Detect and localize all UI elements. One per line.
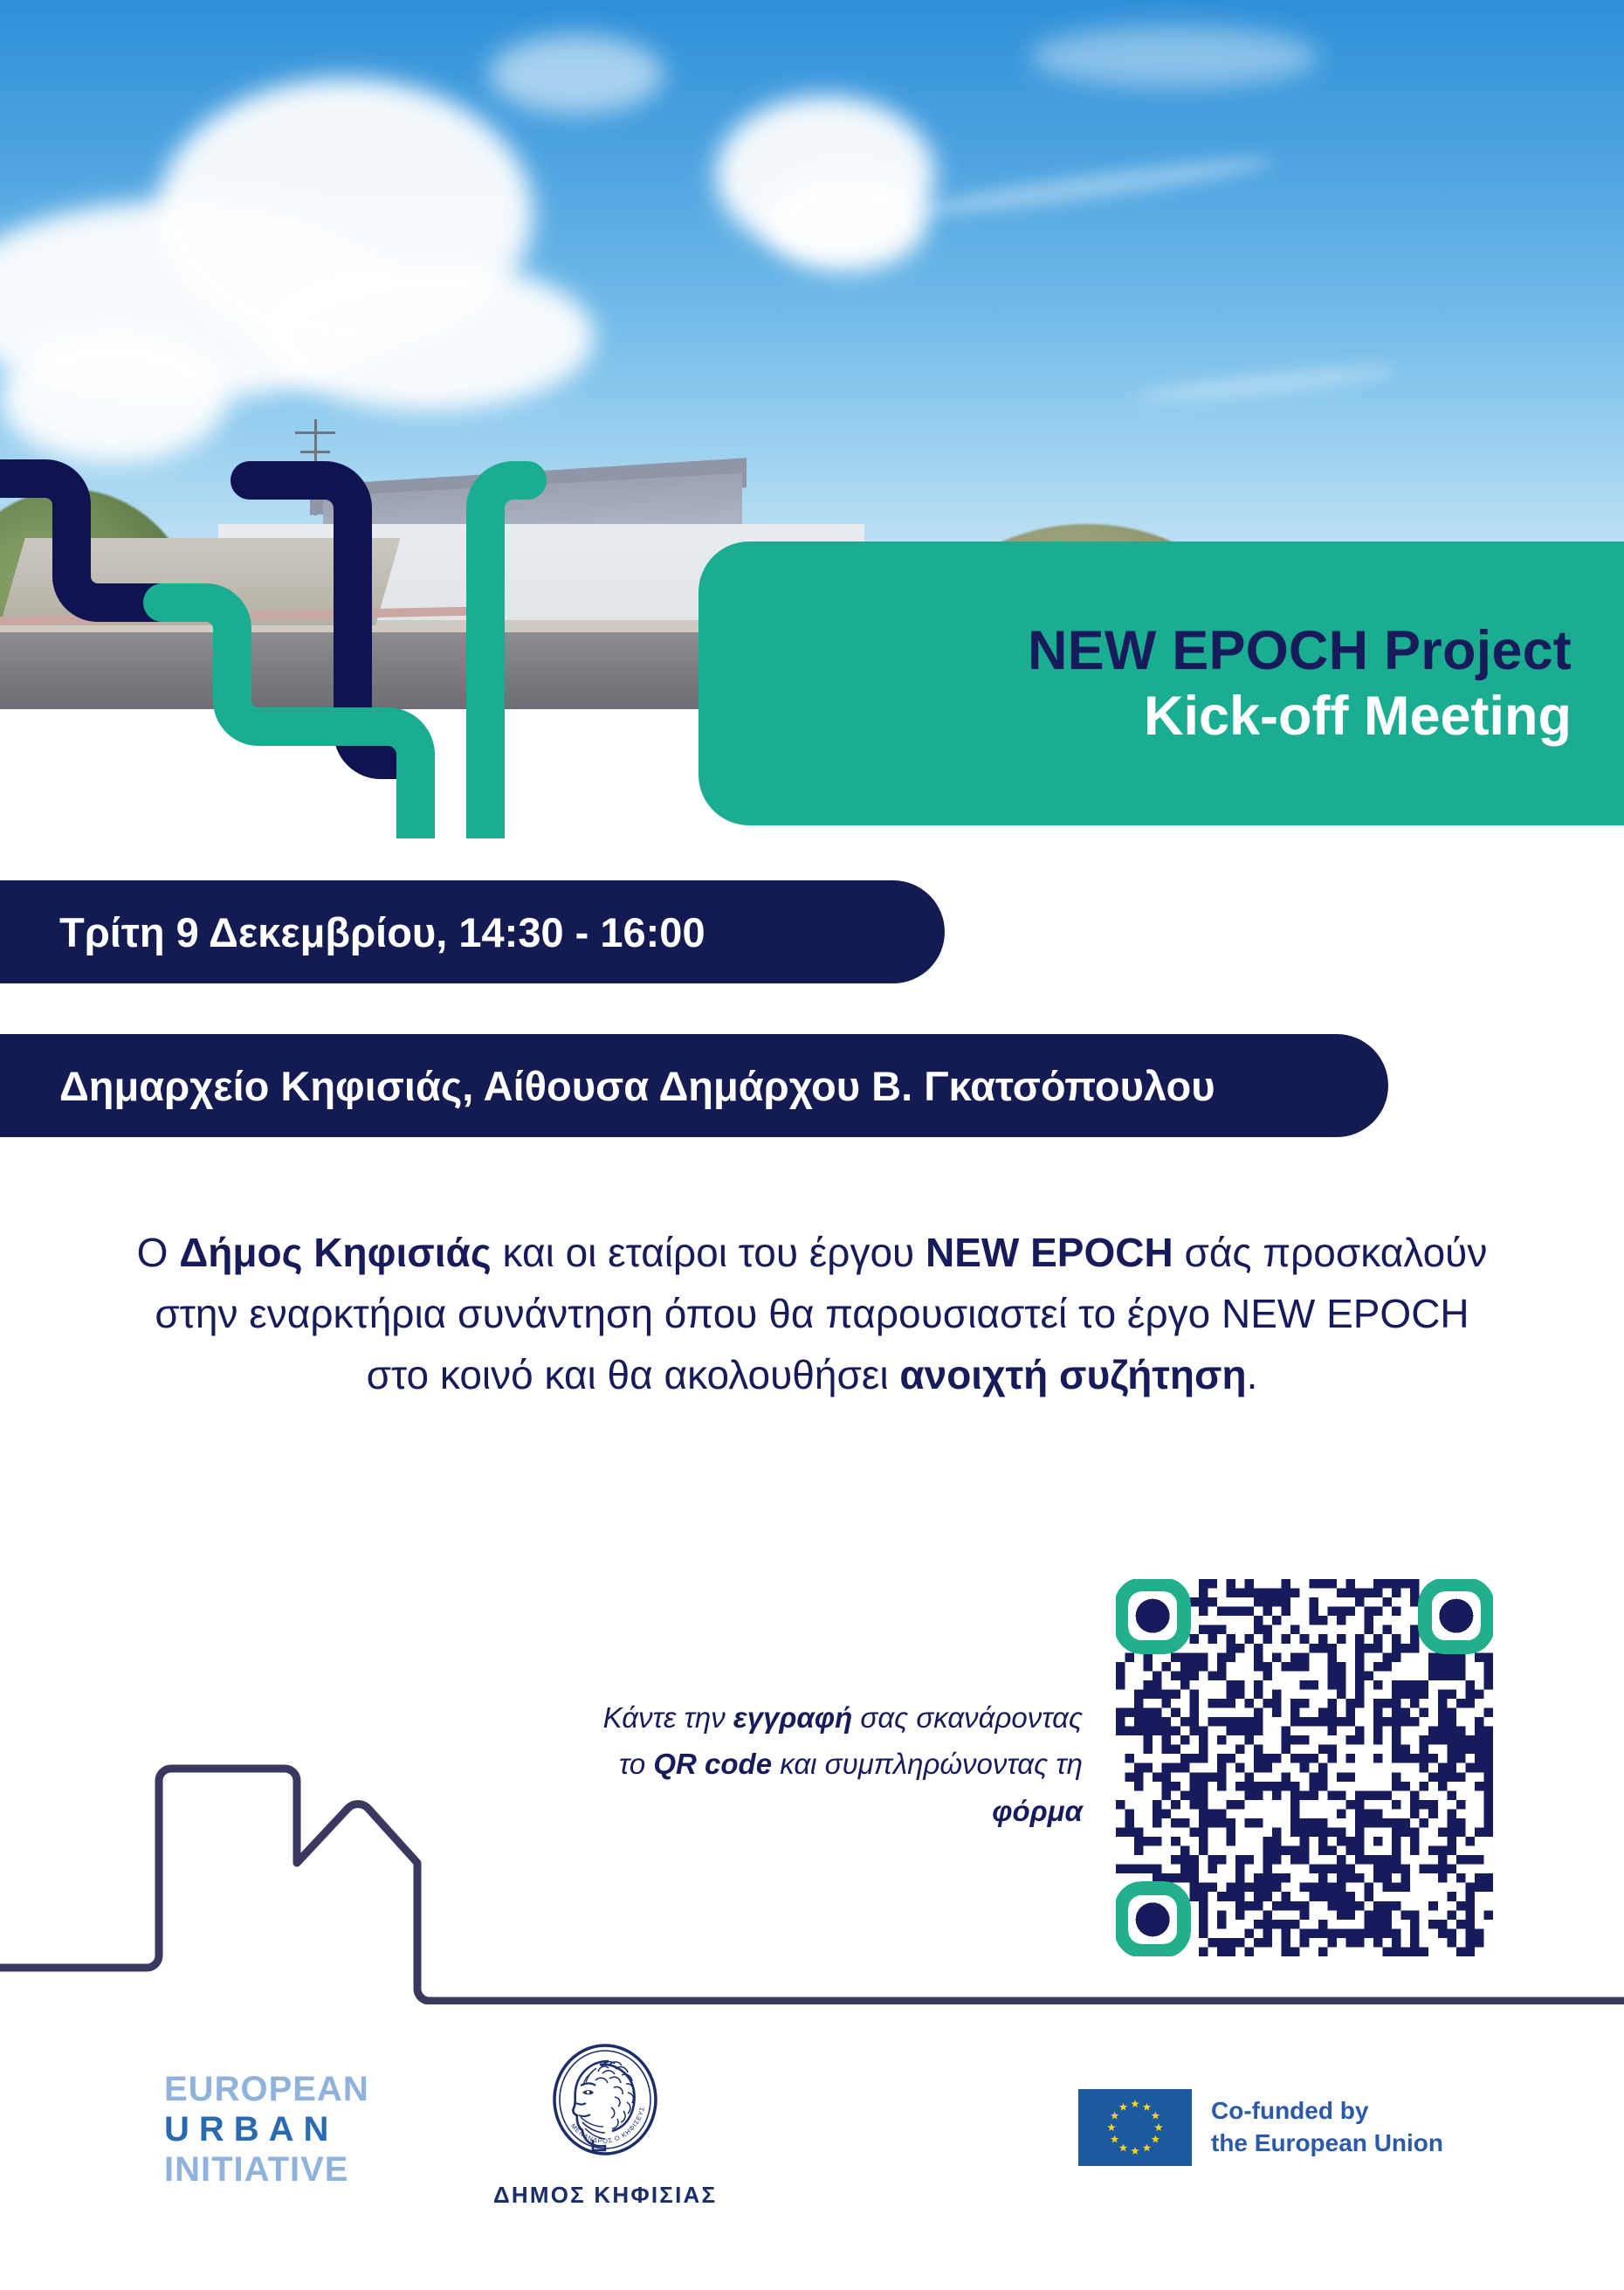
invitation-paragraph: Ο Δήμος Κηφισιάς και οι εταίροι του έργο… <box>122 1223 1502 1406</box>
body-part-4: . <box>1247 1352 1258 1397</box>
footer-logos: EUROPEAN URBAN INITIATIVE <box>0 2035 1624 2280</box>
eu-text-line-2: the European Union <box>1211 2128 1443 2160</box>
cloud <box>0 332 227 463</box>
qr-code[interactable] <box>1116 1579 1493 1956</box>
event-subtitle: Kick-off Meeting <box>1144 686 1572 746</box>
date-text: Τρίτη 9 Δεκεμβρίου, 14:30 - 16:00 <box>59 908 705 956</box>
eu-flag-icon <box>1078 2089 1192 2166</box>
qr-caption-bold-form: φόρμα <box>992 1795 1083 1827</box>
eu-text-line-1: Co-funded by <box>1211 2095 1443 2128</box>
event-poster: NEW EPOCH Project Kick-off Meeting Τρίτη… <box>0 0 1624 2290</box>
body-bold-project: NEW EPOCH <box>926 1230 1173 1275</box>
venue-text: Δημαρχείο Κηφισιάς, Αίθουσα Δημάρχου Β. … <box>59 1062 1215 1110</box>
kifisia-label: ΔΗΜΟΣ ΚΗΦΙΣΙΑΣ <box>493 2182 717 2209</box>
qr-caption-part-3: και συμπληρώνοντας τη <box>772 1748 1083 1780</box>
cloud <box>489 35 664 114</box>
eui-line-1: EUROPEAN <box>164 2072 369 2107</box>
eui-line-2: URBAN <box>164 2112 369 2147</box>
body-part-2: και οι εταίροι του έργου <box>492 1230 926 1275</box>
eu-cofunded-logo: Co-funded by the European Union <box>1078 2089 1443 2166</box>
qr-caption-bold-registration: εγγραφή <box>733 1701 852 1734</box>
svg-text:ΜΕΝΑΝΔΡΟΣ Ο ΚΗΦΙΣΕΥΣ: ΜΕΝΑΝΔΡΟΣ Ο ΚΗΦΙΣΕΥΣ <box>569 2106 646 2145</box>
body-bold-discussion: ανοιχτή συζήτηση <box>899 1352 1246 1397</box>
cloud <box>768 175 926 271</box>
cloud <box>1030 26 1318 87</box>
european-urban-initiative-logo: EUROPEAN URBAN INITIATIVE <box>164 2072 369 2187</box>
qr-caption-bold-qrcode: QR code <box>653 1748 772 1780</box>
project-title: NEW EPOCH Project <box>1028 621 1572 680</box>
kifisia-seal-icon: ΜΕΝΑΝΔΡΟΣ Ο ΚΗΦΙΣΕΥΣ <box>547 2042 663 2173</box>
body-part-1: Ο <box>137 1230 180 1275</box>
eu-funding-text: Co-funded by the European Union <box>1211 2095 1443 2160</box>
venue-banner: Δημαρχείο Κηφισιάς, Αίθουσα Δημάρχου Β. … <box>0 1034 1388 1137</box>
body-bold-municipality: Δήμος Κηφισιάς <box>179 1230 492 1275</box>
date-banner: Τρίτη 9 Δεκεμβρίου, 14:30 - 16:00 <box>0 880 945 983</box>
cloud <box>262 262 594 410</box>
qr-code-graphic[interactable] <box>1116 1579 1493 1956</box>
kifisia-municipality-logo: ΜΕΝΑΝΔΡΟΣ Ο ΚΗΦΙΣΕΥΣ ΔΗΜΟΣ ΚΗΦΙΣΙΑΣ <box>493 2042 717 2209</box>
eui-line-3: INITIATIVE <box>164 2152 369 2187</box>
qr-instruction-text: Κάντε την εγγραφή σας σκανάροντας το QR … <box>576 1694 1083 1834</box>
qr-caption-part-1: Κάντε την <box>603 1701 733 1734</box>
title-card: NEW EPOCH Project Kick-off Meeting <box>698 541 1624 825</box>
